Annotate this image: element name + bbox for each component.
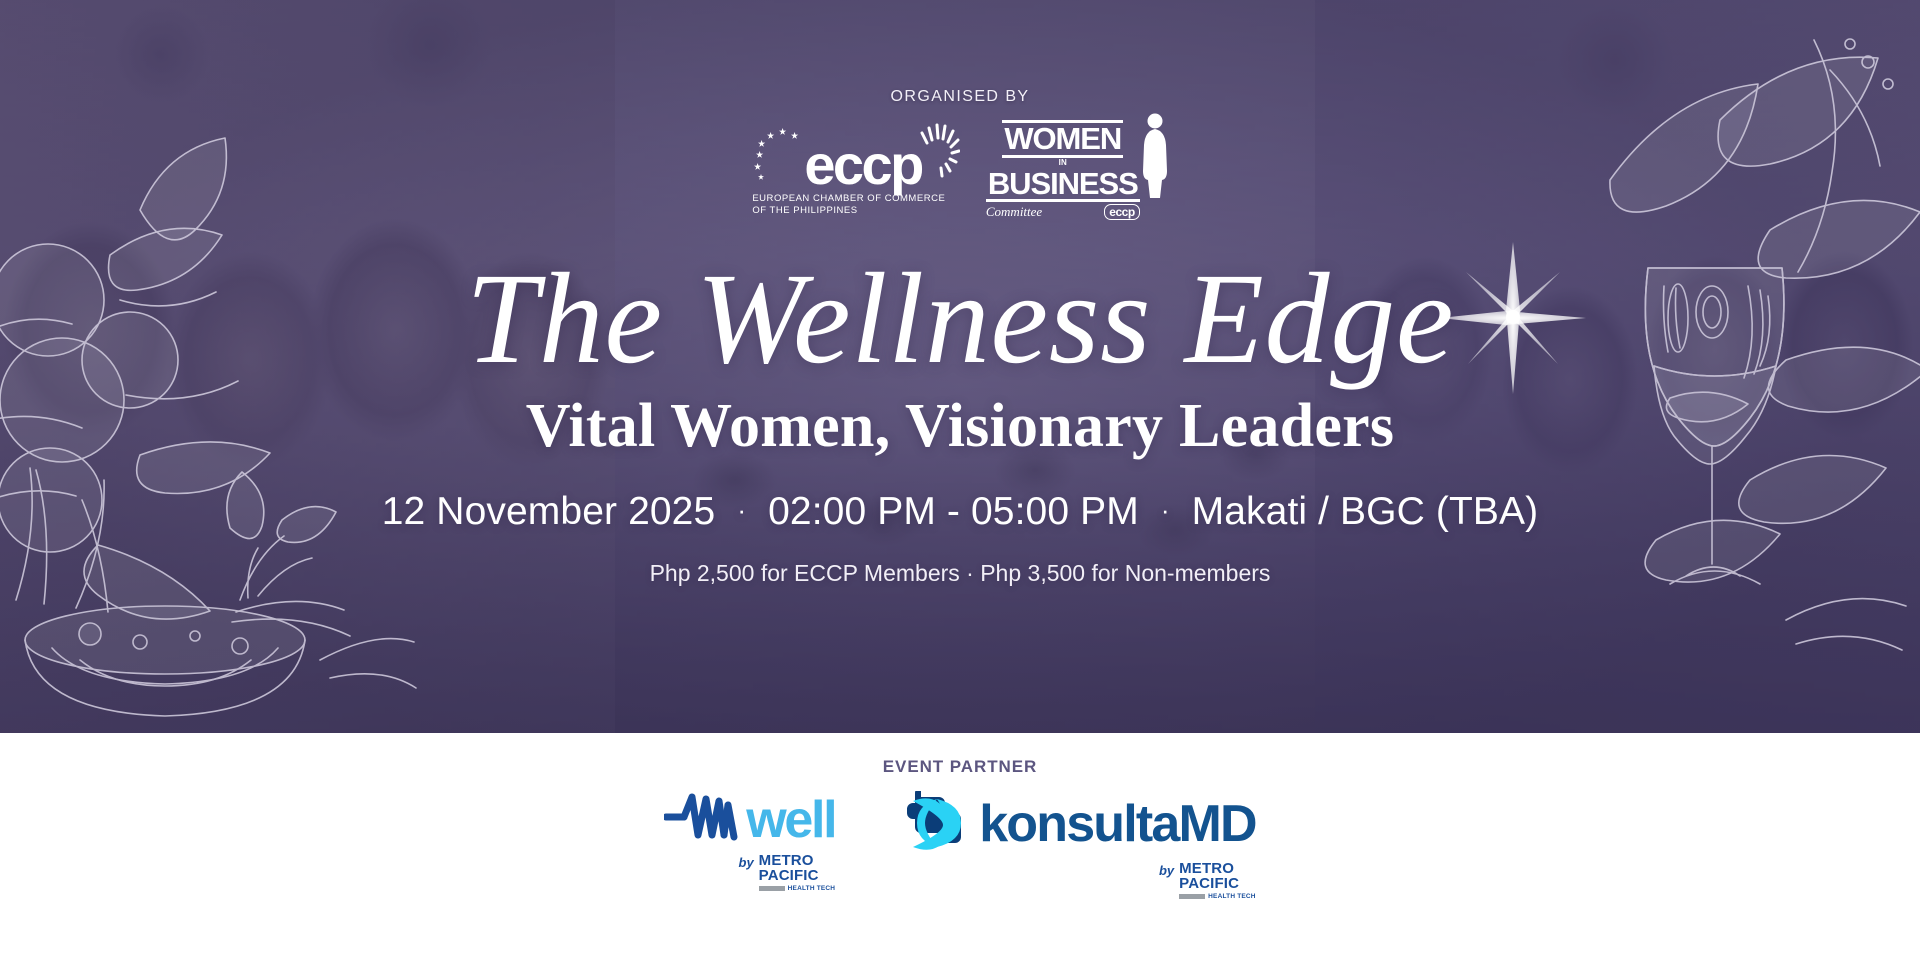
eccp-tagline: EUROPEAN CHAMBER OF COMMERCE OF THE PHIL… [752,193,945,217]
page-title: The Wellness Edge [466,254,1454,384]
woman-silhouette-icon [1142,112,1168,203]
eccp-sunburst-icon [918,123,960,184]
hero-content: ORGANISED BY [0,0,1920,733]
event-partner-label: EVENT PARTNER [883,757,1037,777]
konsultamd-by-metro-pacific: by METRO PACIFIC HEALTH TECH [1159,861,1256,900]
mwell-parent-rule [759,886,785,891]
partner-logos: well by METRO PACIFIC HEALTH TECH [664,791,1255,900]
wib-line1: WOMEN [1002,120,1123,158]
mwell-by-metro-pacific: by METRO PACIFIC HEALTH TECH [739,853,836,892]
hero-section: ORGANISED BY [0,0,1920,733]
konsultamd-by-label: by [1159,861,1174,881]
eccp-logo: eccp [752,123,960,217]
partner-section: EVENT PARTNER well [0,733,1920,960]
organised-by-label: ORGANISED BY [890,88,1029,106]
konsultamd-logo: konsultaMD by METRO PACIFIC HEALTH TECH [901,791,1255,900]
women-in-business-logo: WOMEN IN BUSINESS Committee eccp [986,120,1168,220]
eccp-tagline-line1: EUROPEAN CHAMBER OF COMMERCE [752,193,945,205]
meta-separator-1: · [737,497,746,523]
event-date: 12 November 2025 [382,490,716,534]
eccp-wordmark: eccp [804,143,922,188]
event-venue: Makati / BGC (TBA) [1192,490,1539,534]
konsultamd-parent-line2: PACIFIC [1179,876,1256,891]
konsultamd-parent-line1: METRO [1179,861,1256,876]
page-subtitle: Vital Women, Visionary Leaders [526,392,1395,460]
cross-butterfly-icon [901,791,969,858]
mwell-logo: well by METRO PACIFIC HEALTH TECH [664,791,835,892]
wib-committee: Committee [986,204,1042,220]
konsultamd-parent-rule [1179,894,1205,899]
event-banner: ORGANISED BY [0,0,1920,960]
mwell-by-label: by [739,853,754,873]
mwell-parent-tagline: HEALTH TECH [788,885,836,892]
mwell-parent-line2: PACIFIC [759,868,836,883]
eccp-tagline-line2: OF THE PHILIPPINES [752,205,945,217]
event-time: 02:00 PM - 05:00 PM [768,490,1139,534]
event-pricing: Php 2,500 for ECCP Members · Php 3,500 f… [650,560,1271,587]
event-meta-line: 12 November 2025 · 02:00 PM - 05:00 PM ·… [382,490,1539,534]
meta-separator-2: · [1161,497,1170,523]
mwell-parent-line1: METRO [759,853,836,868]
konsultamd-wordmark: konsultaMD [979,801,1255,848]
eu-stars-icon [752,123,810,188]
m-squiggle-icon [664,791,750,850]
organiser-logos: eccp [752,120,1167,220]
mwell-wordmark: well [746,798,835,842]
wib-line2: BUSINESS [986,168,1140,203]
wib-eccp-badge: eccp [1104,204,1139,220]
konsultamd-parent-tagline: HEALTH TECH [1208,893,1256,900]
